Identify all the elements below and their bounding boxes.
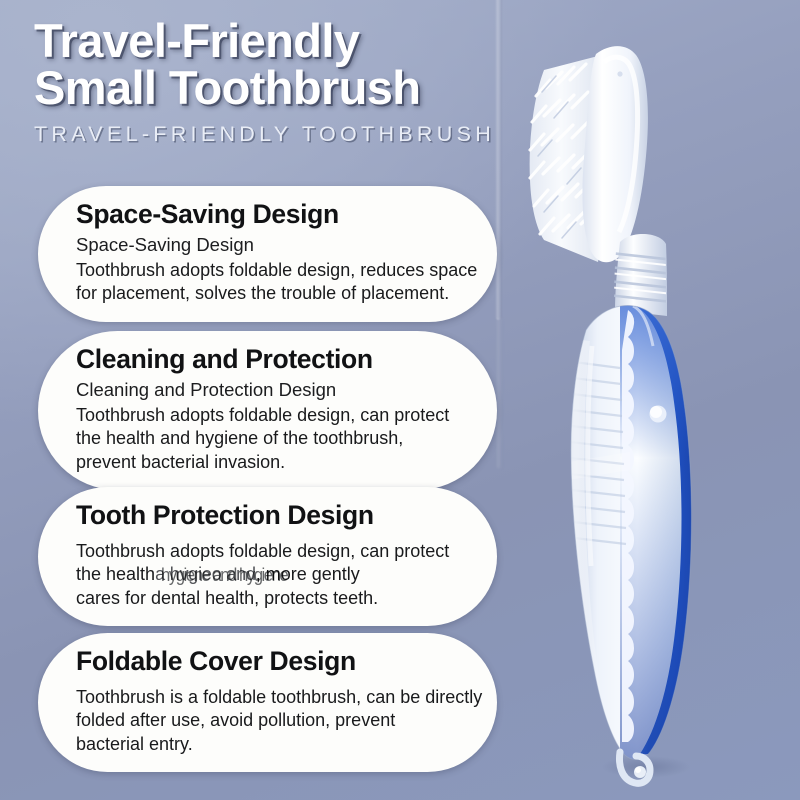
feature-card-body: Toothbrush adopts foldable design, can p… (76, 404, 467, 475)
title-line-2: Small Toothbrush (34, 65, 504, 112)
feature-card-subtitle: Cleaning and Protection Design (76, 378, 467, 402)
foldable-handle-cover (568, 290, 720, 770)
feature-card-subtitle: Space-Saving Design (76, 233, 467, 257)
page-title: Travel-Friendly Small Toothbrush (34, 18, 504, 111)
title-line-1: Travel-Friendly (34, 14, 359, 67)
feature-card-tooth-protection: Tooth Protection Design Toothbrush adopt… (38, 487, 497, 626)
header: Travel-Friendly Small Toothbrush TRAVEL-… (34, 18, 504, 147)
page-subtitle: TRAVEL-FRIENDLY TOOTHBRUSH (34, 122, 504, 147)
infographic-canvas: Travel-Friendly Small Toothbrush TRAVEL-… (0, 0, 800, 800)
body-line: Toothbrush adopts foldable design, can p… (76, 540, 467, 564)
body-line: Toothbrush adopts foldable design, reduc… (76, 259, 467, 283)
body-line-prefix: the health (76, 564, 155, 584)
feature-card-body: Toothbrush adopts foldable design, can p… (76, 540, 467, 611)
garbled-over-layer: hygiene and hygiene (161, 564, 287, 588)
feature-card-title: Cleaning and Protection (76, 345, 467, 375)
body-line: cares for dental health, protects teeth. (76, 587, 467, 611)
body-line: Toothbrush is a foldable toothbrush, can… (76, 686, 467, 710)
feature-card-title: Tooth Protection Design (76, 501, 467, 531)
feature-card-space-saving: Space-Saving Design Space-Saving Design … (38, 186, 497, 322)
body-line: folded after use, avoid pollution, preve… (76, 709, 467, 733)
body-line: bacterial entry. (76, 733, 467, 757)
garbled-text-artifact: a hvgieo andhygiene and hygiene (155, 563, 256, 587)
feature-card-body: Toothbrush adopts foldable design, reduc… (76, 259, 467, 306)
feature-card-foldable-cover: Foldable Cover Design Toothbrush is a fo… (38, 633, 497, 772)
feature-card-title: Space-Saving Design (76, 200, 467, 230)
feature-card-title: Foldable Cover Design (76, 647, 467, 677)
feature-card-body: Toothbrush is a foldable toothbrush, can… (76, 686, 467, 757)
body-line: the health and hygiene of the toothbrush… (76, 427, 467, 451)
body-line: Toothbrush adopts foldable design, can p… (76, 404, 467, 428)
product-image-toothbrush (470, 10, 800, 800)
body-line: prevent bacterial invasion. (76, 451, 467, 475)
body-line-garbled: the healtha hvgieo andhygiene and hygien… (76, 563, 467, 587)
feature-card-cleaning-protection: Cleaning and Protection Cleaning and Pro… (38, 331, 497, 490)
body-line: for placement, solves the trouble of pla… (76, 282, 467, 306)
